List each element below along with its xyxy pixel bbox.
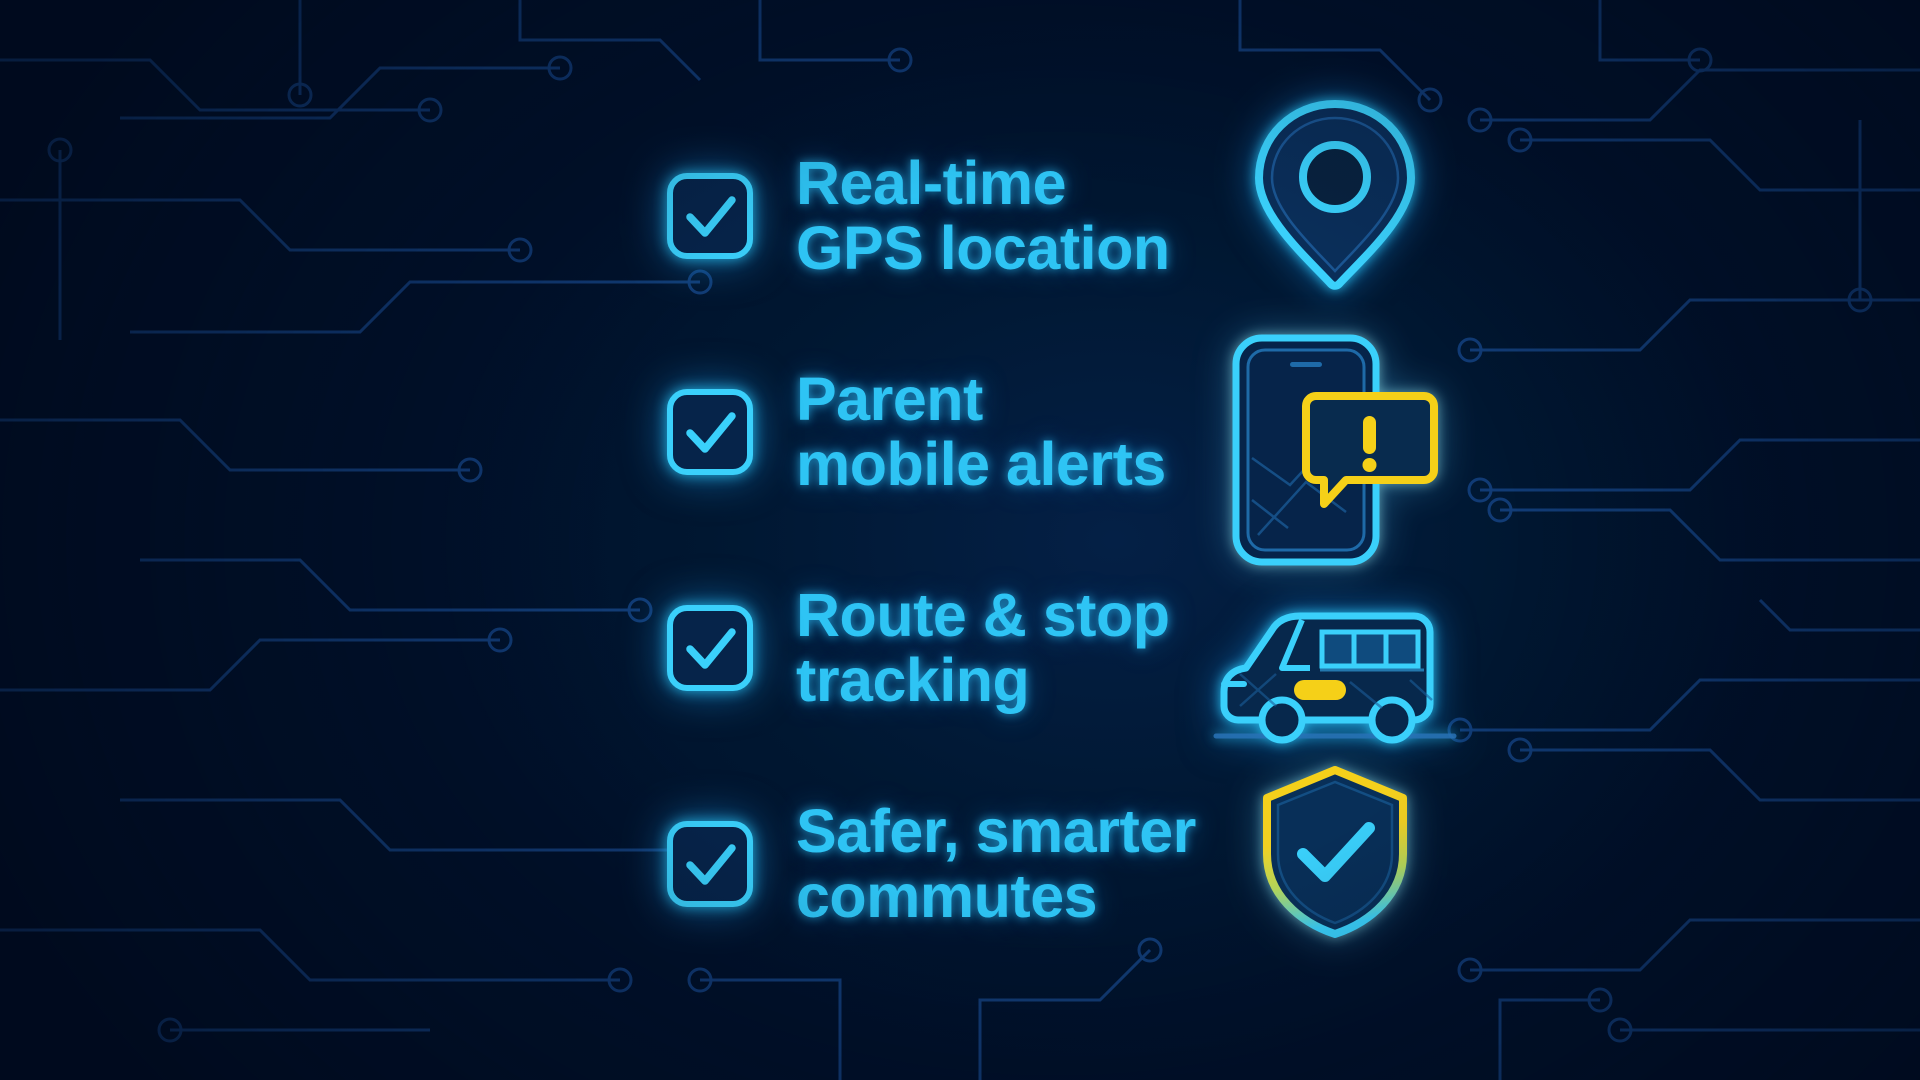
feature-icon-column (1185, 0, 1485, 1080)
map-pin-icon (1185, 92, 1485, 297)
school-van-icon (1185, 596, 1485, 756)
checkbox-checked-icon (664, 386, 756, 478)
phone-alert-icon (1185, 330, 1485, 570)
shield-check-icon (1185, 762, 1485, 942)
checkbox-checked-icon (664, 170, 756, 262)
checkbox-checked-icon (664, 602, 756, 694)
checkbox-checked-icon (664, 818, 756, 910)
infographic-content: Real-time GPS location Parent mobile ale… (0, 0, 1920, 1080)
